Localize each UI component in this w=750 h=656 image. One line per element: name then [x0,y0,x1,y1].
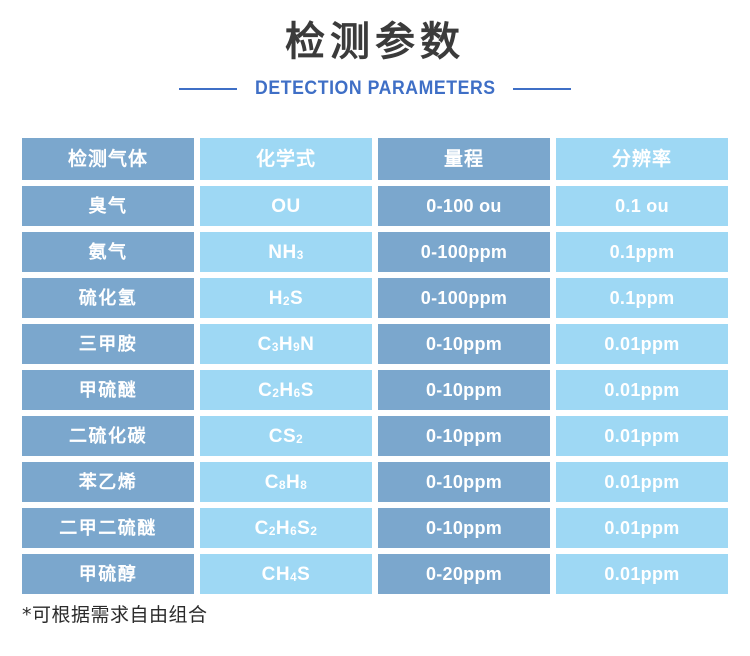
formula-subscript: 4 [290,572,297,584]
formula-subscript: 8 [279,480,286,492]
cell-gas-name: 二硫化碳 [22,416,194,456]
cell-gas-name: 二甲二硫醚 [22,508,194,548]
formula-symbol: NH [268,243,296,262]
cell-gas-name: 臭气 [22,186,194,226]
cell-gas-name: 三甲胺 [22,324,194,364]
formula-symbol: N [300,335,314,354]
cell-resolution: 0.01ppm [556,416,728,456]
column-header-1: 检测气体 [22,138,194,180]
formula-subscript: 9 [293,342,300,354]
detection-parameters-table: 检测气体化学式量程分辨率臭气OU0-100 ou0.1 ou氨气NH30-100… [22,138,728,600]
detection-parameters-page: 检测参数 DETECTION PARAMETERS 检测气体化学式量程分辨率臭气… [0,0,750,656]
formula-symbol: CH [262,565,290,584]
table-row: 臭气OU0-100 ou0.1 ou [22,186,728,226]
cell-chemical-formula: CS2 [200,416,372,456]
formula-subscript: 8 [300,480,307,492]
formula-subscript: 2 [296,434,303,446]
formula-symbol: H [286,473,300,492]
formula-symbol: C [265,473,279,492]
page-subtitle-text: DETECTION PARAMETERS [246,78,503,100]
cell-resolution: 0.1 ou [556,186,728,226]
table-row: 硫化氢H2S0-100ppm0.1ppm [22,278,728,318]
formula-symbol: H [279,381,293,400]
formula-symbol: C [255,519,269,538]
cell-resolution: 0.01ppm [556,554,728,594]
page-header: 检测参数 DETECTION PARAMETERS [0,0,750,100]
table-row: 苯乙烯C8H80-10ppm0.01ppm [22,462,728,502]
cell-chemical-formula: OU [200,186,372,226]
formula-symbol: C [258,335,272,354]
formula-symbol: H [279,335,293,354]
cell-gas-name: 硫化氢 [22,278,194,318]
formula-subscript: 3 [297,250,304,262]
table-footnote: *可根据需求自由组合 [22,600,208,627]
cell-resolution: 0.01ppm [556,508,728,548]
cell-measuring-range: 0-10ppm [378,508,550,548]
table-row: 甲硫醇CH4S0-20ppm0.01ppm [22,554,728,594]
cell-resolution: 0.01ppm [556,462,728,502]
cell-chemical-formula: C2H6S [200,370,372,410]
cell-chemical-formula: CH4S [200,554,372,594]
cell-measuring-range: 0-100 ou [378,186,550,226]
table-row: 二硫化碳CS20-10ppm0.01ppm [22,416,728,456]
formula-subscript: 6 [290,526,297,538]
page-title: 检测参数 [0,18,750,66]
cell-chemical-formula: C3H9N [200,324,372,364]
formula-symbol: H [276,519,290,538]
cell-measuring-range: 0-100ppm [378,232,550,272]
subtitle-rule-right [513,88,571,90]
formula-symbol: S [301,381,314,400]
formula-symbol: H [269,289,283,308]
table-header-row: 检测气体化学式量程分辨率 [22,138,728,180]
formula-symbol: S [297,519,310,538]
formula-symbol: CS [269,427,296,446]
formula-symbol: OU [271,197,301,216]
table-row: 氨气NH30-100ppm0.1ppm [22,232,728,272]
formula-symbol: S [290,289,303,308]
cell-chemical-formula: H2S [200,278,372,318]
cell-measuring-range: 0-20ppm [378,554,550,594]
cell-gas-name: 甲硫醚 [22,370,194,410]
formula-subscript: 6 [294,388,301,400]
cell-measuring-range: 0-10ppm [378,462,550,502]
formula-symbol: C [258,381,272,400]
cell-resolution: 0.1ppm [556,278,728,318]
formula-subscript: 2 [269,526,276,538]
cell-measuring-range: 0-10ppm [378,324,550,364]
cell-gas-name: 甲硫醇 [22,554,194,594]
cell-measuring-range: 0-100ppm [378,278,550,318]
table-row: 三甲胺C3H9N0-10ppm0.01ppm [22,324,728,364]
cell-measuring-range: 0-10ppm [378,370,550,410]
column-header-4: 分辨率 [556,138,728,180]
cell-resolution: 0.01ppm [556,370,728,410]
cell-gas-name: 氨气 [22,232,194,272]
table-row: 二甲二硫醚C2H6S20-10ppm0.01ppm [22,508,728,548]
column-header-2: 化学式 [200,138,372,180]
cell-gas-name: 苯乙烯 [22,462,194,502]
cell-chemical-formula: NH3 [200,232,372,272]
cell-chemical-formula: C8H8 [200,462,372,502]
cell-chemical-formula: C2H6S2 [200,508,372,548]
formula-subscript: 2 [283,296,290,308]
cell-resolution: 0.01ppm [556,324,728,364]
column-header-3: 量程 [378,138,550,180]
cell-resolution: 0.1ppm [556,232,728,272]
formula-subscript: 2 [272,388,279,400]
table-row: 甲硫醚C2H6S0-10ppm0.01ppm [22,370,728,410]
page-subtitle: DETECTION PARAMETERS [0,78,750,100]
subtitle-rule-left [179,88,237,90]
formula-subscript: 3 [272,342,279,354]
formula-subscript: 2 [310,526,317,538]
formula-symbol: S [297,565,310,584]
cell-measuring-range: 0-10ppm [378,416,550,456]
